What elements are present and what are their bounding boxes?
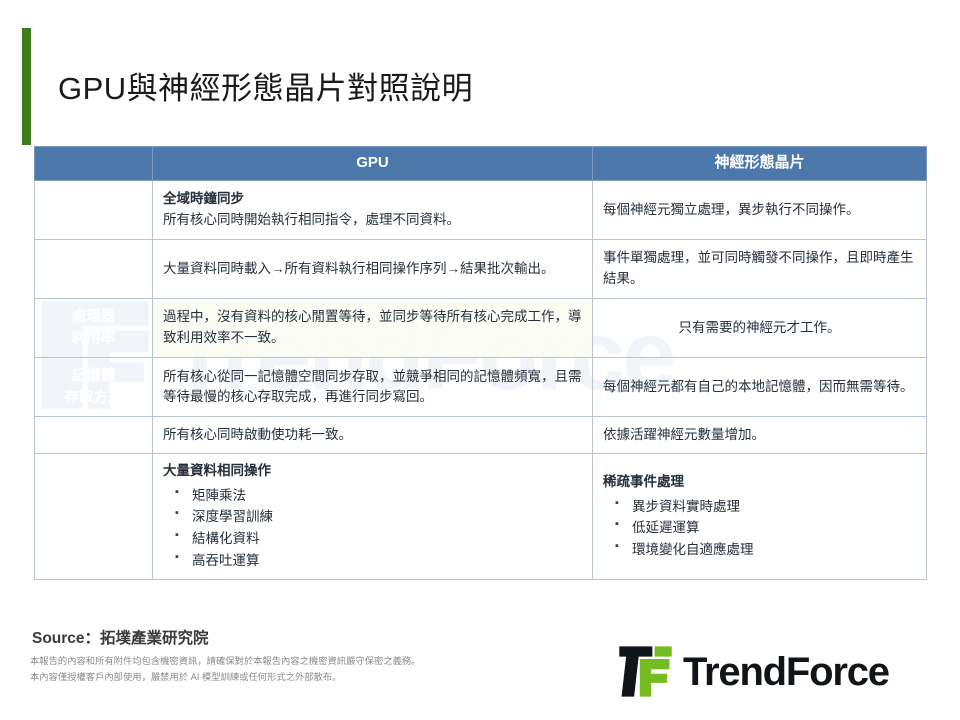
list-item: 環境變化自適應處理 xyxy=(615,539,916,561)
table-row: 處理器 利用率 過程中，沒有資料的核心閒置等待，並同步等待所有核心完成工作，導致… xyxy=(35,298,927,357)
row-label-power: 功耗特性 xyxy=(35,417,153,454)
cell-gpu-memory-access: 所有核心從同一記憶體空間同步存取，並競爭相同的記憶體頻寬，且需等待最慢的核心存取… xyxy=(153,357,593,416)
table-row: 資料 流動方式 大量資料同時載入→所有資料執行相同操作序列→結果批次輸出。 事件… xyxy=(35,239,927,298)
table-corner-cell xyxy=(35,147,153,181)
title-accent-bar xyxy=(22,28,31,145)
cell-neuromorphic-algorithms: 稀疏事件處理 異步資料實時處理 低延遲運算 環境變化自適應處理 xyxy=(593,454,927,580)
cell-heading: 稀疏事件處理 xyxy=(603,472,916,493)
neuromorphic-algorithm-list: 異步資料實時處理 低延遲運算 環境變化自適應處理 xyxy=(615,496,916,562)
cell-neuromorphic-data-flow: 事件單獨處理，並可同時觸發不同操作，且即時產生結果。 xyxy=(593,239,927,298)
cell-gpu-algorithms: 大量資料相同操作 矩陣乘法 深度學習訓練 結構化資料 高吞吐運算 xyxy=(153,454,593,580)
row-label-global-sync: 全域 同步性 xyxy=(35,180,153,239)
trendforce-logo-icon xyxy=(617,643,674,700)
list-item: 深度學習訓練 xyxy=(175,506,582,528)
row-label-line2: 流動方式 xyxy=(45,269,142,291)
list-item: 異步資料實時處理 xyxy=(615,496,916,518)
cell-neuromorphic-power: 依據活躍神經元數量增加。 xyxy=(593,417,927,454)
row-label-memory-access: 記憶體 存取方式 xyxy=(35,357,153,416)
disclaimer-line-2: 本內容僅授權客戶內部使用，嚴禁用於 AI 模型訓練或任何形式之外部散布。 xyxy=(30,670,420,686)
slide-canvas: GPU與神經形態晶片對照說明 TrendForce GPU 神經形態晶片 全域 xyxy=(0,0,960,720)
cell-heading: 全域時鐘同步 xyxy=(163,189,582,210)
row-label-line2: 利用率 xyxy=(45,328,142,350)
trendforce-wordmark: TrendForce xyxy=(683,652,889,692)
trendforce-logo: TrendForce xyxy=(617,643,889,700)
list-item: 低延遲運算 xyxy=(615,517,916,539)
table-row: 功耗特性 所有核心同時啟動使功耗一致。 依據活躍神經元數量增加。 xyxy=(35,417,927,454)
cell-heading: 大量資料相同操作 xyxy=(163,461,582,482)
cell-gpu-global-sync: 全域時鐘同步 所有核心同時開始執行相同指令，處理不同資料。 xyxy=(153,180,593,239)
cell-gpu-utilization: 過程中，沒有資料的核心閒置等待，並同步等待所有核心完成工作，導致利用效率不一致。 xyxy=(153,298,593,357)
list-item: 高吞吐運算 xyxy=(175,550,582,572)
row-label-data-flow: 資料 流動方式 xyxy=(35,239,153,298)
row-label-line1: 處理器 xyxy=(72,309,116,325)
row-label-algorithms: 應用算法 xyxy=(35,454,153,580)
page-title: GPU與神經形態晶片對照說明 xyxy=(58,63,473,108)
row-label-line2: 同步性 xyxy=(45,210,142,232)
disclaimer-line-1: 本報告的內容和所有附件均包含機密資訊，請確保對於本報告內容之機密資訊嚴守保密之義… xyxy=(30,654,420,670)
cell-text: 所有核心同時開始執行相同指令，處理不同資料。 xyxy=(163,212,460,227)
row-label-utilization: 處理器 利用率 xyxy=(35,298,153,357)
disclaimer: 本報告的內容和所有附件均包含機密資訊，請確保對於本報告內容之機密資訊嚴守保密之義… xyxy=(30,654,420,686)
cell-gpu-power: 所有核心同時啟動使功耗一致。 xyxy=(153,417,593,454)
cell-neuromorphic-global-sync: 每個神經元獨立處理，異步執行不同操作。 xyxy=(593,180,927,239)
cell-neuromorphic-memory-access: 每個神經元都有自己的本地記憶體，因而無需等待。 xyxy=(593,357,927,416)
table-header-row: GPU 神經形態晶片 xyxy=(35,147,927,181)
row-label-line1: 資料 xyxy=(79,250,108,266)
column-header-gpu: GPU xyxy=(153,147,593,181)
table-row-algorithms: 應用算法 大量資料相同操作 矩陣乘法 深度學習訓練 結構化資料 高吞吐運算 稀疏… xyxy=(35,454,927,580)
column-header-neuromorphic: 神經形態晶片 xyxy=(593,147,927,181)
cell-gpu-data-flow: 大量資料同時載入→所有資料執行相同操作序列→結果批次輸出。 xyxy=(153,239,593,298)
row-label-line2: 存取方式 xyxy=(45,387,142,409)
cell-neuromorphic-utilization: 只有需要的神經元才工作。 xyxy=(593,298,927,357)
source-label: Source：拓墣產業研究院 xyxy=(32,626,209,648)
gpu-algorithm-list: 矩陣乘法 深度學習訓練 結構化資料 高吞吐運算 xyxy=(175,485,582,572)
table-row: 全域 同步性 全域時鐘同步 所有核心同時開始執行相同指令，處理不同資料。 每個神… xyxy=(35,180,927,239)
row-label-line1: 全域 xyxy=(79,191,108,207)
list-item: 結構化資料 xyxy=(175,528,582,550)
row-label-line1: 功耗特性 xyxy=(65,427,123,443)
table-row: 記憶體 存取方式 所有核心從同一記憶體空間同步存取，並競爭相同的記憶體頻寬，且需… xyxy=(35,357,927,416)
comparison-table: GPU 神經形態晶片 全域 同步性 全域時鐘同步 所有核心同時開始執行相同指令，… xyxy=(34,146,927,580)
row-label-line1: 記憶體 xyxy=(72,368,116,384)
list-item: 矩陣乘法 xyxy=(175,485,582,507)
